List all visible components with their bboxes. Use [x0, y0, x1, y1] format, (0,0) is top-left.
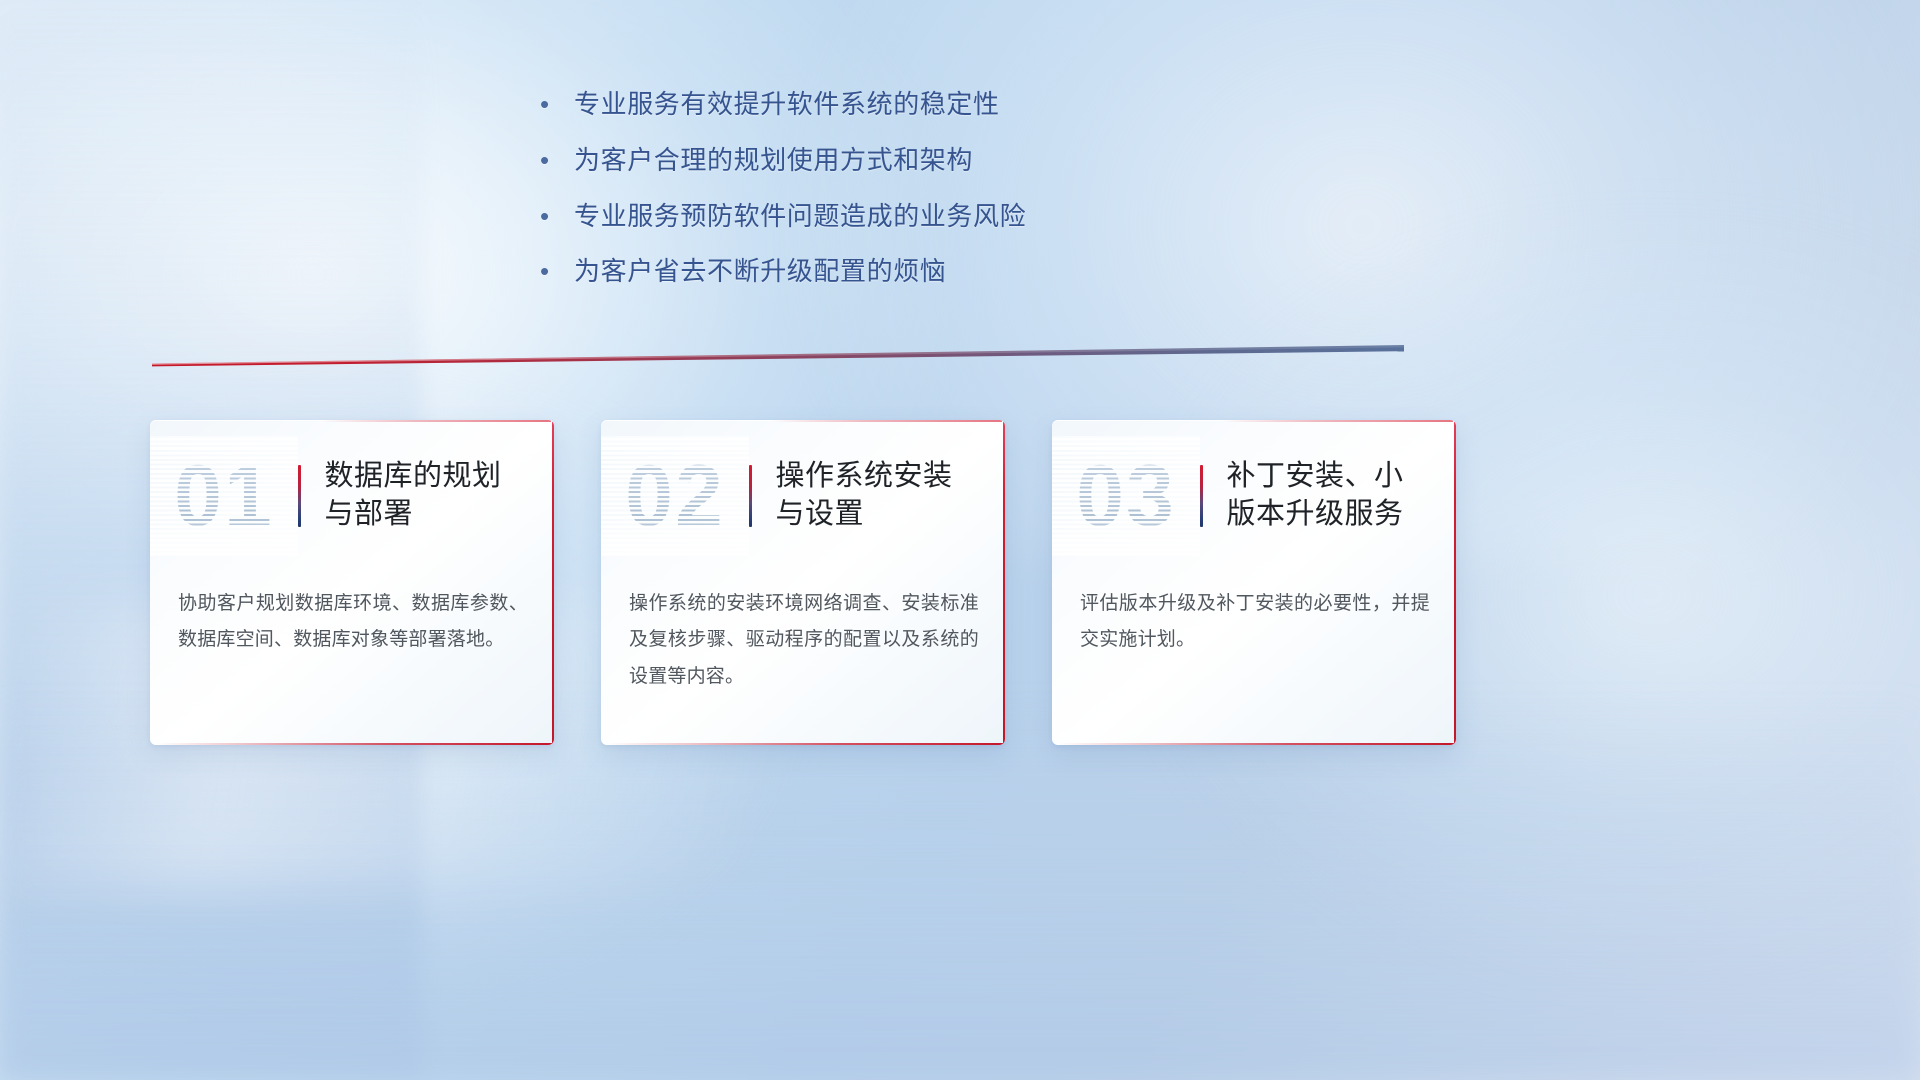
bullet-item-text: 为客户合理的规划使用方式和架构: [574, 144, 1440, 178]
card-description: 评估版本升级及补丁安装的必要性，并提交实施计划。: [1080, 586, 1430, 659]
card-title-line-2: 与设置: [776, 496, 992, 534]
card-accent-bottom: [607, 743, 1005, 746]
card-title-line-2: 与部署: [325, 496, 541, 534]
card-title-divider: [298, 465, 301, 527]
service-card[interactable]: 03 补丁安装、小 版本升级服务 评估版本升级及补丁安装的必要性，并提交实施计划…: [1052, 420, 1456, 745]
service-card-list: 01 数据库的规划 与部署 协助客户规划数据库环境、数据库参数、数据库空间、数据…: [150, 420, 1770, 750]
card-step-number: 02: [601, 436, 749, 556]
service-card[interactable]: 02 操作系统安装 与设置 操作系统的安装环境网络调查、安装标准及复核步骤、驱动…: [601, 420, 1005, 745]
card-header: 02 操作系统安装 与设置: [601, 436, 1005, 556]
bullet-item: • 专业服务有效提升软件系统的稳定性: [540, 88, 1440, 122]
card-step-number: 01: [150, 436, 298, 556]
card-description: 操作系统的安装环境网络调查、安装标准及复核步骤、驱动程序的配置以及系统的设置等内…: [629, 586, 979, 695]
card-title: 操作系统安装 与设置: [776, 458, 1006, 533]
card-step-number-text: 01: [174, 436, 274, 556]
bullet-item-text: 专业服务有效提升软件系统的稳定性: [574, 88, 1440, 122]
bullet-item-text: 专业服务预防软件问题造成的业务风险: [574, 200, 1440, 234]
section-divider: [152, 345, 1404, 367]
card-accent-top: [1222, 420, 1453, 422]
card-title-divider: [1200, 465, 1203, 527]
card-title-divider: [749, 465, 752, 527]
card-step-number: 03: [1052, 436, 1200, 556]
card-accent-bottom: [156, 743, 554, 746]
service-card[interactable]: 01 数据库的规划 与部署 协助客户规划数据库环境、数据库参数、数据库空间、数据…: [150, 420, 554, 745]
bullet-item: • 为客户合理的规划使用方式和架构: [540, 144, 1440, 178]
card-accent-top: [320, 420, 551, 422]
card-description: 协助客户规划数据库环境、数据库参数、数据库空间、数据库对象等部署落地。: [178, 586, 528, 659]
bullet-marker-icon: •: [540, 88, 574, 122]
bullet-marker-icon: •: [540, 144, 574, 178]
bullet-item: • 专业服务预防软件问题造成的业务风险: [540, 200, 1440, 234]
bullet-item: • 为客户省去不断升级配置的烦恼: [540, 255, 1440, 289]
card-step-number-text: 02: [625, 436, 725, 556]
card-title-line-1: 操作系统安装: [776, 458, 992, 496]
bullet-marker-icon: •: [540, 200, 574, 234]
bullet-marker-icon: •: [540, 255, 574, 289]
slide-stage: • 专业服务有效提升软件系统的稳定性 • 为客户合理的规划使用方式和架构 • 专…: [0, 0, 1920, 1080]
card-title: 补丁安装、小 版本升级服务: [1227, 458, 1457, 533]
section-divider-shape: [152, 345, 1404, 367]
card-title-line-1: 补丁安装、小: [1227, 458, 1443, 496]
card-header: 03 补丁安装、小 版本升级服务: [1052, 436, 1456, 556]
benefits-bullet-list: • 专业服务有效提升软件系统的稳定性 • 为客户合理的规划使用方式和架构 • 专…: [540, 88, 1440, 311]
card-accent-bottom: [1058, 743, 1456, 746]
card-accent-top: [771, 420, 1002, 422]
card-title: 数据库的规划 与部署: [325, 458, 555, 533]
card-title-line-1: 数据库的规划: [325, 458, 541, 496]
bullet-item-text: 为客户省去不断升级配置的烦恼: [574, 255, 1440, 289]
card-title-line-2: 版本升级服务: [1227, 496, 1443, 534]
card-step-number-text: 03: [1076, 436, 1176, 556]
card-header: 01 数据库的规划 与部署: [150, 436, 554, 556]
